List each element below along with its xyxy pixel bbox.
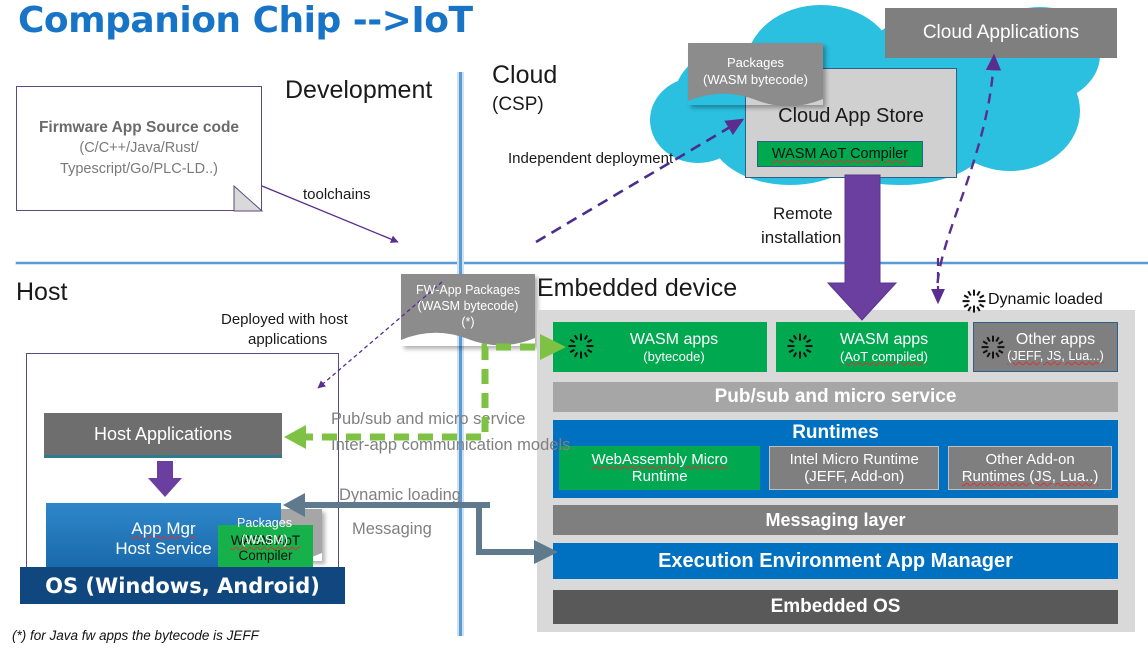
fw-packages-line-1: FW-App Packages — [416, 282, 520, 298]
embedded-app-manager-label: Execution Environment App Manager — [658, 550, 1013, 573]
embedded-app-0-sub: (bytecode) — [630, 349, 718, 364]
dynamic-loaded-legend-label: Dynamic loaded — [988, 291, 1103, 309]
source-box-line-1: (C/C++/Java/Rust/ — [79, 138, 198, 159]
runtime-0-line-1: WebAssembly Micro — [591, 451, 727, 468]
app-mgr-line-2: Host Service — [115, 539, 211, 559]
cloud-applications-box: Cloud Applications — [885, 8, 1117, 58]
section-heading-embedded-device: Embedded device — [537, 274, 737, 303]
embedded-app-other: Other apps (JEFF, JS, Lua...) — [973, 322, 1118, 372]
label-dynamic-loading: Dynamic loading — [339, 486, 461, 505]
runtime-0-line-2: Runtime — [632, 468, 688, 485]
footnote: (*) for Java fw apps the bytecode is JEF… — [12, 628, 259, 643]
embedded-app-2-title: Other apps — [1007, 331, 1104, 349]
fw-packages-line-3: (*) — [416, 314, 520, 330]
host-aot-line-2: Compiler — [238, 548, 292, 563]
label-pubsub-models-line-1: Pub/sub and micro service — [331, 410, 525, 429]
spinner-icon — [788, 334, 812, 358]
embedded-pubsub-label: Pub/sub and micro service — [715, 386, 957, 408]
label-deployed-line-1: Deployed with host — [221, 311, 348, 328]
embedded-runtimes-section: Runtimes WebAssembly Micro Runtime Intel… — [553, 420, 1118, 498]
label-deployed-line-2: applications — [248, 331, 327, 348]
runtime-2-line-1: Other Add-on — [985, 451, 1074, 468]
embedded-app-1-sub: (AoT compiled) — [840, 349, 928, 364]
section-heading-cloud: Cloud — [492, 61, 557, 90]
embedded-app-wasm-bytecode: WASM apps (bytecode) — [553, 322, 767, 372]
source-box-line-2: Typescript/Go/PLC-LD..) — [60, 159, 218, 180]
runtime-webassembly-micro: WebAssembly Micro Runtime — [559, 446, 760, 490]
embedded-os-label: Embedded OS — [771, 596, 901, 618]
embedded-app-0-title: WASM apps — [630, 331, 718, 349]
section-heading-development: Development — [285, 76, 432, 105]
runtime-intel-micro: Intel Micro Runtime (JEFF, Add-on) — [769, 446, 939, 490]
embedded-messaging-layer-bar: Messaging layer — [553, 505, 1118, 535]
label-messaging: Messaging — [352, 520, 432, 539]
embedded-runtimes-title: Runtimes — [792, 422, 879, 444]
page-title: Companion Chip -->IoT — [18, 0, 473, 41]
host-packages-line-1: Packages — [237, 515, 292, 532]
label-remote-line-1: Remote — [773, 204, 833, 224]
app-mgr-line-1: App Mgr — [131, 519, 195, 539]
label-toolchains: toolchains — [303, 186, 371, 203]
embedded-os-bar: Embedded OS — [553, 590, 1118, 624]
runtime-2-line-2: Runtimes (JS, Lua..) — [962, 468, 1099, 485]
embedded-pubsub-bar: Pub/sub and micro service — [553, 382, 1118, 412]
cloud-applications-label: Cloud Applications — [923, 22, 1079, 44]
divider-horizontal-top — [16, 262, 1148, 264]
firmware-source-code-box: Firmware App Source code (C/C++/Java/Rus… — [16, 86, 262, 211]
label-pubsub-models-line-2: Inter-app communication models — [331, 436, 570, 455]
host-os-label: OS (Windows, Android) — [45, 574, 320, 598]
spinner-icon — [963, 290, 985, 312]
host-applications-box: Host Applications — [44, 413, 282, 458]
host-packages-line-2: (WASM) — [237, 532, 292, 549]
source-box-heading: Firmware App Source code — [39, 118, 239, 138]
embedded-app-1-title: WASM apps — [840, 331, 928, 349]
cloud-wasm-aot-compiler-box: WASM AoT Compiler — [757, 141, 923, 167]
cloud-packages-banner: Packages (WASM bytecode) — [688, 43, 823, 105]
fw-app-packages-banner: FW-App Packages (WASM bytecode) (*) — [401, 274, 535, 346]
spinner-icon — [982, 336, 1004, 358]
embedded-app-wasm-aot: WASM apps (AoT compiled) — [776, 322, 968, 372]
section-subheading-csp: (CSP) — [492, 94, 544, 116]
section-heading-host: Host — [16, 278, 67, 307]
label-remote-line-2: installation — [761, 228, 841, 248]
embedded-app-2-sub: (JEFF, JS, Lua...) — [1007, 349, 1104, 363]
runtime-1-line-2: (JEFF, Add-on) — [804, 468, 904, 485]
label-independent-deployment: Independent deployment — [508, 150, 673, 167]
fw-packages-line-2: (WASM bytecode) — [416, 298, 520, 314]
host-os-bar: OS (Windows, Android) — [20, 567, 345, 604]
runtime-1-line-1: Intel Micro Runtime — [790, 451, 919, 468]
host-applications-label: Host Applications — [94, 424, 232, 445]
runtime-other-addon: Other Add-on Runtimes (JS, Lua..) — [948, 446, 1112, 490]
embedded-messaging-layer-label: Messaging layer — [765, 510, 905, 531]
cloud-packages-line-1: Packages — [703, 54, 808, 71]
cloud-packages-line-2: (WASM bytecode) — [703, 71, 808, 88]
cloud-wasm-aot-compiler-label: WASM AoT Compiler — [772, 146, 908, 162]
spinner-icon — [569, 334, 593, 358]
embedded-app-manager-bar: Execution Environment App Manager — [553, 543, 1118, 579]
